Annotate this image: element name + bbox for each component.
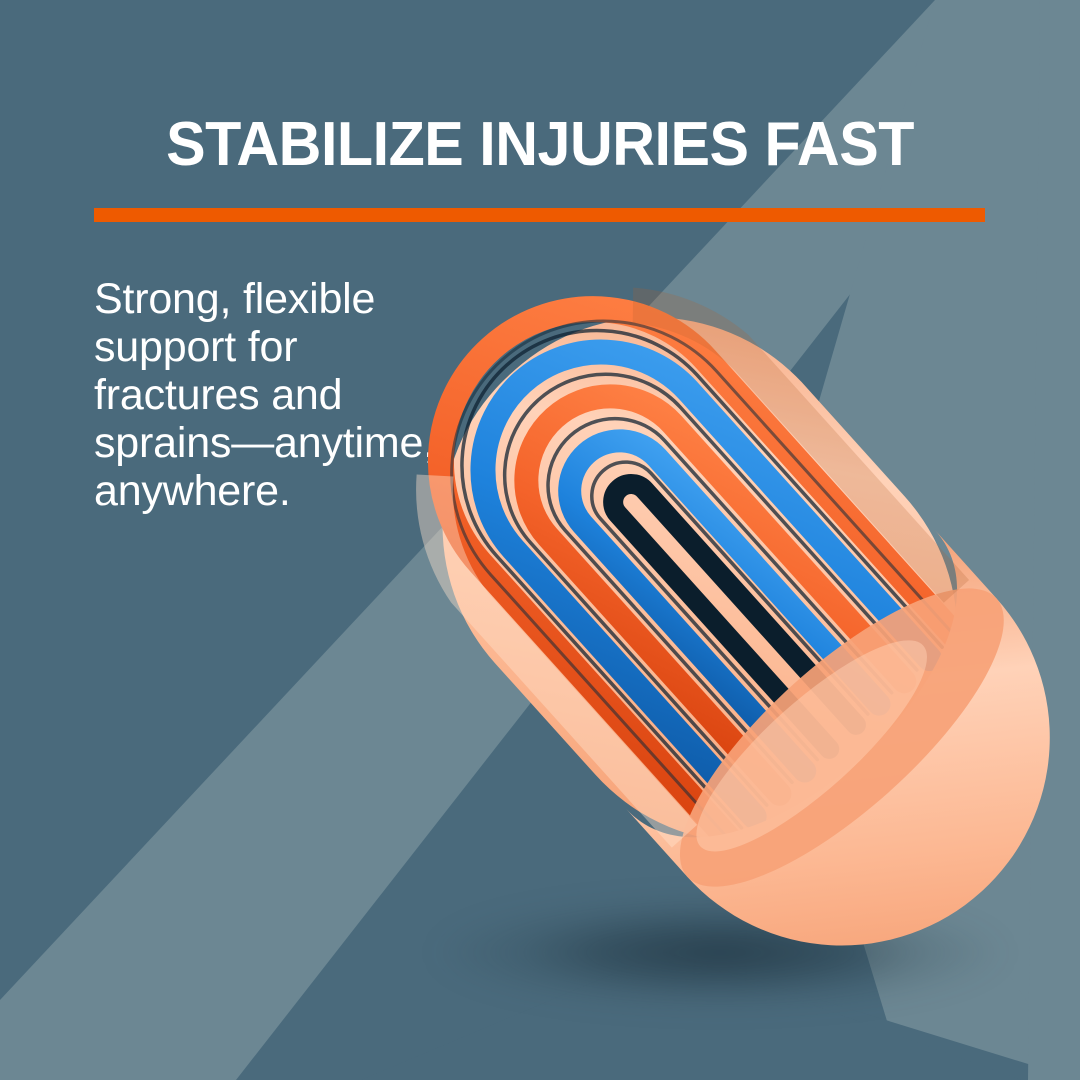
promo-card: STABILIZE INJURIES FAST Strong, flexible… xyxy=(0,0,1080,1080)
product-image xyxy=(0,0,1080,1080)
splint-body xyxy=(337,209,1080,1031)
